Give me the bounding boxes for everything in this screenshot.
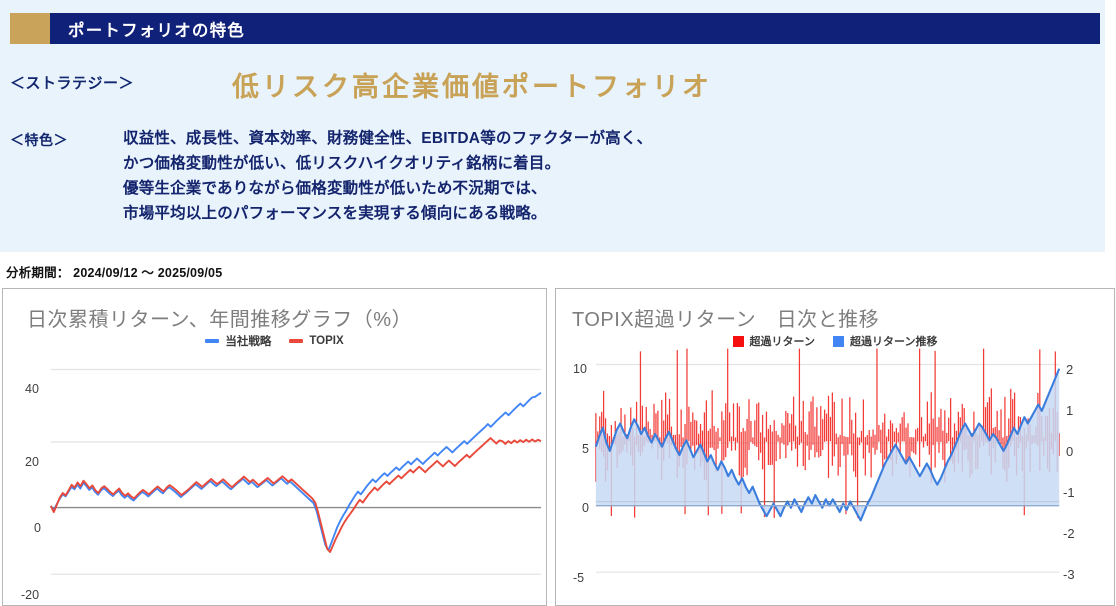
section-header-bar: ポートフォリオの特色 (10, 13, 1100, 44)
cumulative-return-chart-panel: 日次累積リターン、年間推移グラフ（%） 当社戦略 TOPIX 40 20 0 -… (2, 288, 547, 606)
series-path-group (51, 393, 541, 552)
area-series-group (596, 369, 1059, 521)
feature-line: 優等生企業でありながら価格変動性が低いため不況期では、 (123, 176, 652, 201)
feature-label: ＜特色＞ (10, 130, 68, 150)
strategy-title: 低リスク高企業価値ポートフォリオ (232, 65, 712, 104)
feature-line: かつ価格変動性が低い、低リスクハイクオリティ銘柄に着目。 (123, 151, 652, 176)
section-title: ポートフォリオの特色 (68, 17, 245, 41)
feature-description: 収益性、成長性、資本効率、財務健全性、EBITDA等のファクターが高く、 かつ価… (123, 126, 652, 226)
right-chart-plot (556, 289, 1114, 605)
left-chart-plot (3, 289, 546, 605)
portfolio-info-block: ポートフォリオの特色 ＜ストラテジー＞ 低リスク高企業価値ポートフォリオ ＜特色… (0, 0, 1105, 252)
feature-line: 収益性、成長性、資本効率、財務健全性、EBITDA等のファクターが高く、 (123, 126, 652, 151)
excess-return-chart-panel: TOPIX超過リターン 日次と推移 超過リターン 超過リターン推移 10 5 0… (555, 288, 1115, 606)
navy-title-bar: ポートフォリオの特色 (50, 13, 1100, 44)
gold-accent-block (10, 13, 50, 44)
line-strategy (51, 393, 541, 551)
strategy-label: ＜ストラテジー＞ (10, 72, 134, 93)
feature-line: 市場平均以上のパフォーマンスを実現する傾向にある戦略。 (123, 201, 652, 226)
area-excess-trend-fill (596, 369, 1059, 521)
analysis-period: 分析期間： 2024/09/12 ～ 2025/09/05 (6, 262, 222, 281)
line-topix (51, 438, 541, 552)
